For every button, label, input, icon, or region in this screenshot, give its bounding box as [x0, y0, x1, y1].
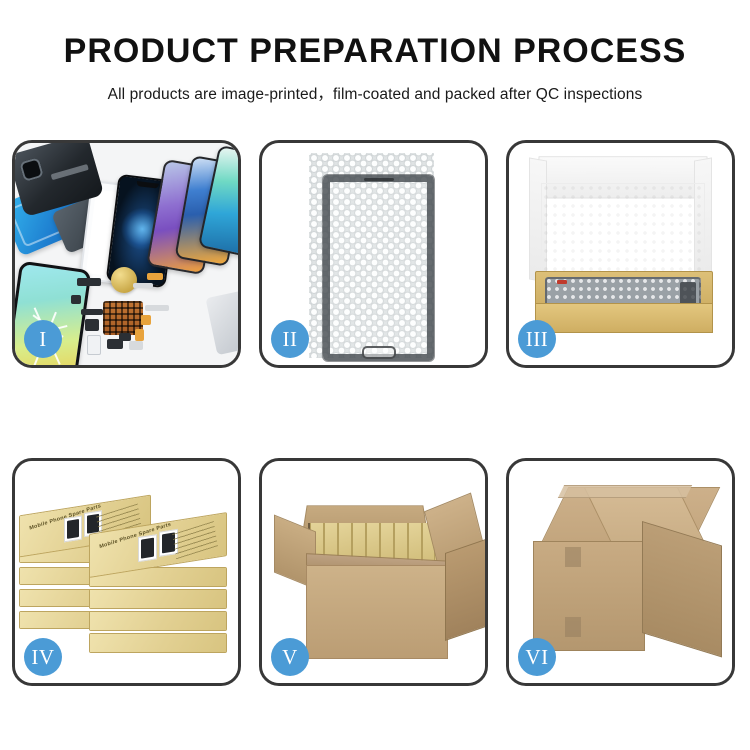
small-part — [133, 283, 153, 288]
step-panel-2: II — [259, 140, 488, 368]
step-badge-4: IV — [24, 638, 62, 676]
sealing-tape-image — [558, 485, 692, 498]
small-part — [81, 309, 103, 315]
step-panel-6: VI — [506, 458, 735, 686]
page-subtitle: All products are image-printed，film-coat… — [0, 82, 750, 104]
foam-padding-image — [541, 183, 705, 283]
home-button-shape — [362, 346, 396, 359]
housing-highlight — [51, 164, 89, 180]
carton-front-face-image — [306, 565, 448, 659]
small-part — [87, 335, 101, 355]
small-part — [71, 295, 81, 304]
repair-tool-image — [205, 289, 238, 355]
label-sticker-shape — [557, 280, 567, 284]
step-panel-4: Mobile Phone Spare Parts Mobile Phone Sp… — [12, 458, 241, 686]
camera-lens-shape — [19, 157, 44, 182]
bubble-wrap-sheet-image — [309, 153, 434, 358]
phone-glass-image — [323, 175, 434, 361]
carton-side-face-image — [445, 539, 485, 641]
stacked-box — [89, 611, 227, 631]
page-header: PRODUCT PREPARATION PROCESS All products… — [0, 0, 750, 104]
copper-coil-part-image — [111, 267, 137, 293]
notch-shape — [136, 181, 158, 189]
carton-tab-shape — [565, 617, 581, 637]
step-badge-2: II — [271, 320, 309, 358]
step-badge-6: VI — [518, 638, 556, 676]
earpiece-slot-shape — [364, 178, 394, 181]
carton-side-face-image — [642, 521, 722, 657]
kraft-tray-front-image — [535, 303, 713, 333]
step-badge-1: I — [24, 320, 62, 358]
small-part — [129, 341, 143, 350]
small-part — [141, 315, 151, 325]
small-part — [147, 273, 163, 280]
small-part — [77, 278, 101, 286]
step-badge-5: V — [271, 638, 309, 676]
small-part — [145, 305, 169, 311]
stacked-box — [89, 633, 227, 653]
product-preparation-infographic: PRODUCT PREPARATION PROCESS All products… — [0, 0, 750, 750]
small-part — [119, 333, 131, 341]
carton-tab-shape — [565, 547, 581, 567]
step-panel-5: V — [259, 458, 488, 686]
steps-grid: I II — [12, 140, 738, 686]
step-panel-1: I — [12, 140, 241, 368]
step-panel-3: III — [506, 140, 735, 368]
carton-front-face-image — [533, 541, 645, 651]
step-badge-3: III — [518, 320, 556, 358]
small-part — [85, 319, 99, 331]
page-title: PRODUCT PREPARATION PROCESS — [0, 34, 750, 70]
stacked-box — [89, 589, 227, 609]
small-part — [135, 329, 144, 341]
